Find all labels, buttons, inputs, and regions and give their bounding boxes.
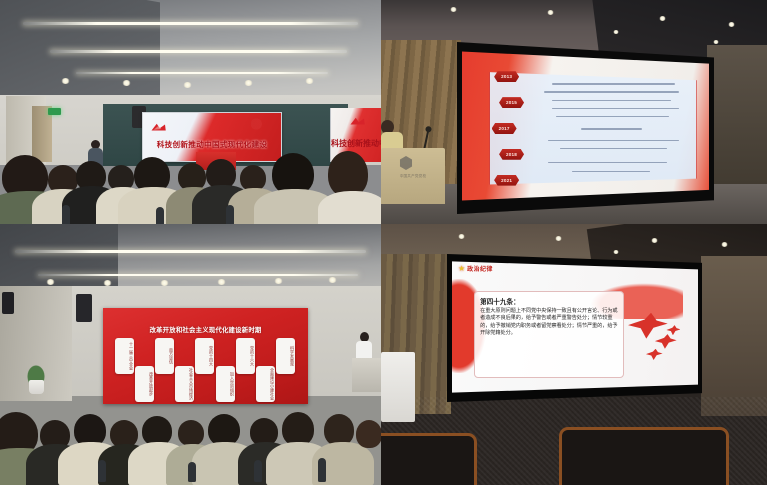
timeline-badge: 2017 (492, 123, 517, 134)
light-strip (23, 22, 358, 25)
timeline-badge: 2015 (499, 97, 524, 108)
slide-card: 党的十六大 (236, 338, 255, 374)
downlight (244, 80, 253, 86)
downlight (659, 16, 666, 21)
institution-emblem-icon (399, 156, 413, 170)
party-emblem-icon (150, 121, 168, 134)
downlight (555, 236, 562, 241)
party-emblem-icon (349, 115, 367, 128)
photo-bottom-left: 改革开放和社会主义现代化建设新时期 十一届三中全会 南方谈话 党的十四大 党的十… (0, 224, 381, 485)
side-cabinet (381, 352, 415, 422)
exit-sign-icon (48, 108, 61, 115)
slide-content-panel (489, 70, 697, 187)
downlight (713, 40, 719, 44)
slide-card: 党的十四大 (195, 338, 214, 374)
slide: 2013 2015 2017 2018 2021 (462, 50, 709, 202)
speaker-box (76, 294, 92, 322)
downlight (305, 78, 314, 84)
downlight (547, 10, 554, 15)
dove-illustration (624, 308, 688, 364)
downlight (46, 279, 55, 285)
slide-title: 改革开放和社会主义现代化建设新时期 (103, 325, 308, 334)
photo-top-left: 科技创新推动中国式现代化建设 科技创新推动中国式现代化建设 (0, 0, 381, 224)
photo-top-right: 2013 2015 2017 2018 2021 中国共产党党校 (381, 0, 767, 224)
light-strip (50, 50, 347, 53)
slide-card: 南方谈话 (155, 338, 174, 374)
led-display: 2013 2015 2017 2018 2021 (457, 42, 714, 214)
podium: 中国共产党党校 (381, 148, 445, 204)
article-body: 在重大原则问题上不同党中央保持一致且有公开言论、行为或者造成不良后果的，给予警告… (480, 308, 618, 338)
timeline-badge: 2021 (494, 175, 519, 186)
downlight (613, 30, 619, 34)
article-box: 第四十九条： 在重大原则问题上不同党中央保持一致且有公开言论、行为或者造成不良后… (474, 291, 624, 378)
downlight (183, 82, 192, 88)
chair-foreground (559, 427, 729, 485)
slide-header: ★ 政治纪律 (458, 264, 493, 273)
wood-wall-right (701, 256, 767, 416)
timeline-badge: 2018 (499, 149, 524, 160)
downlight (721, 242, 728, 247)
slide-header-label: 政治纪律 (467, 264, 493, 273)
star-icon: ★ (458, 265, 465, 273)
led-display: ★ 政治纪律 第四十九条： 在重大原则问题上不同党中央保持一致且有公开言论、行为… (447, 254, 702, 402)
downlight (613, 250, 619, 254)
speaker-box (2, 292, 14, 314)
wood-wall-right (707, 45, 767, 195)
audience (0, 139, 381, 224)
podium (352, 358, 381, 392)
slide-card: 十一届三中全会 (115, 338, 134, 374)
downlight (122, 80, 131, 86)
slide: ★ 政治纪律 第四十九条： 在重大原则问题上不同党中央保持一致且有公开言论、行为… (452, 260, 698, 394)
downlight (328, 277, 337, 283)
light-strip (76, 72, 327, 74)
chair-foreground (381, 433, 477, 485)
article-number: 第四十九条： (480, 296, 618, 306)
photo-bottom-right: ★ 政治纪律 第四十九条： 在重大原则问题上不同党中央保持一致且有公开言论、行为… (381, 224, 767, 485)
downlight (61, 78, 70, 84)
photo-collage: 科技创新推动中国式现代化建设 科技创新推动中国式现代化建设 (0, 0, 767, 485)
light-strip (38, 274, 358, 276)
audience (0, 390, 381, 485)
institution-logo (251, 118, 275, 130)
podium-label: 中国共产党党校 (383, 174, 443, 179)
timeline-badge: 2013 (494, 71, 519, 82)
slide-card: 科学发展观 (276, 338, 295, 374)
light-strip (15, 250, 366, 253)
